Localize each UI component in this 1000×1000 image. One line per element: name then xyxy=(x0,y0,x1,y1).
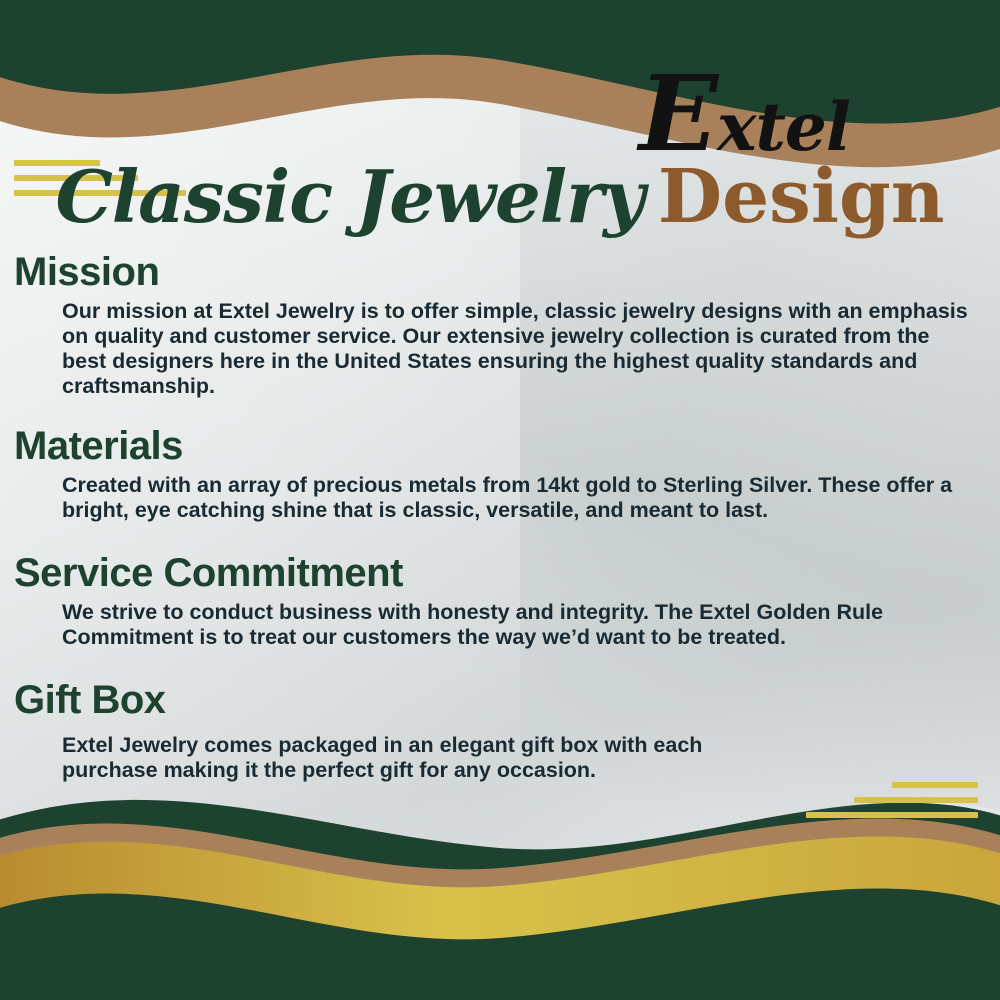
section-body-materials: Created with an array of precious metals… xyxy=(62,473,972,523)
section-heading-service-commitment: Service Commitment xyxy=(14,551,984,596)
section-materials: Materials Created with an array of preci… xyxy=(14,424,984,523)
gold-line xyxy=(854,797,978,803)
poster-canvas: Extel Classic JewelryDesign Mission Our … xyxy=(0,0,1000,1000)
section-body-service-commitment: We strive to conduct business with hones… xyxy=(62,600,972,650)
section-body-mission: Our mission at Extel Jewelry is to offer… xyxy=(62,299,972,400)
page-title-part-two: Design xyxy=(658,154,945,240)
section-gift-box: Gift Box Extel Jewelry comes packaged in… xyxy=(14,678,984,783)
section-heading-mission: Mission xyxy=(14,250,984,295)
gold-line xyxy=(806,812,978,818)
content-sections: Mission Our mission at Extel Jewelry is … xyxy=(14,250,984,795)
section-body-gift-box: Extel Jewelry comes packaged in an elega… xyxy=(62,733,782,783)
section-heading-materials: Materials xyxy=(14,424,984,469)
page-title: Classic JewelryDesign xyxy=(0,160,1000,234)
section-heading-gift-box: Gift Box xyxy=(14,678,984,723)
section-mission: Mission Our mission at Extel Jewelry is … xyxy=(14,250,984,400)
brand-logo: Extel xyxy=(639,78,850,160)
section-service-commitment: Service Commitment We strive to conduct … xyxy=(14,551,984,650)
page-title-part-one: Classic Jewelry xyxy=(56,154,644,239)
